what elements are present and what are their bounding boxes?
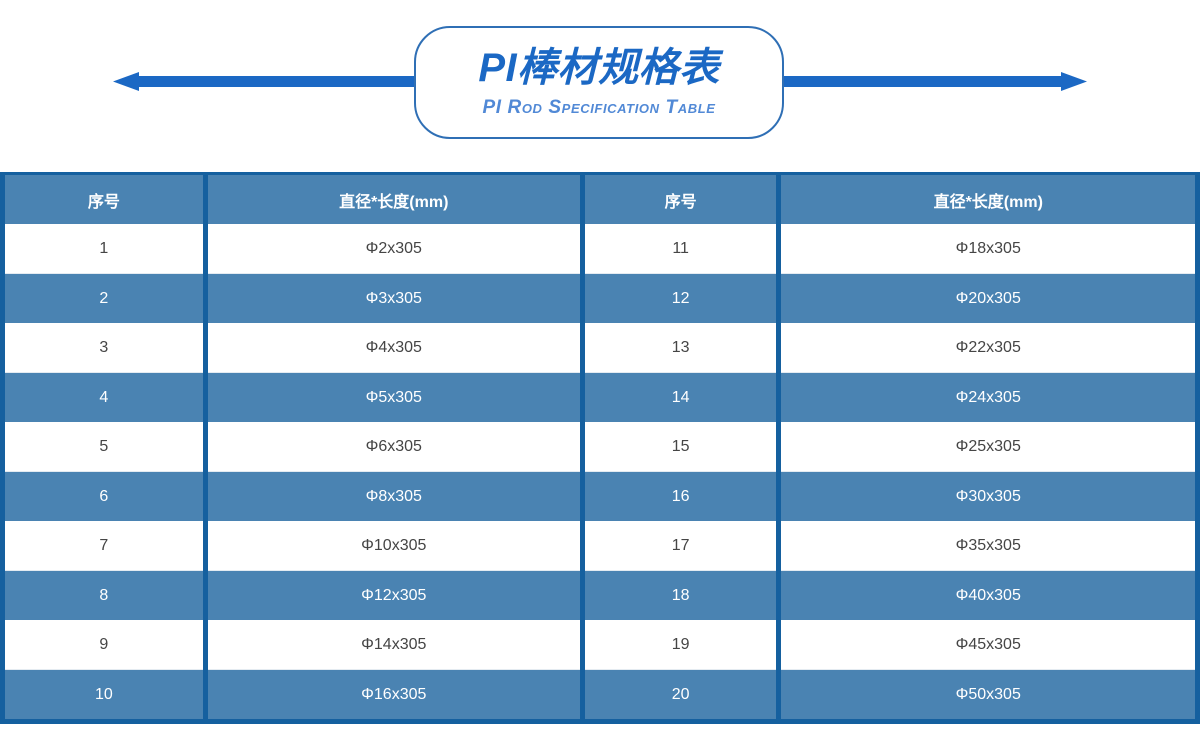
cell-no-left: 6	[3, 472, 206, 522]
cell-spec-left: Φ5x305	[205, 373, 582, 423]
cell-spec-right: Φ35x305	[779, 521, 1198, 571]
cell-no-right: 11	[582, 224, 779, 274]
page-banner: PI棒材规格表 PI Rod Specification Table	[0, 0, 1200, 170]
cell-no-left: 5	[3, 422, 206, 472]
cell-no-left: 3	[3, 323, 206, 373]
cell-spec-left: Φ14x305	[205, 620, 582, 670]
cell-no-left: 2	[3, 274, 206, 324]
cell-no-right: 20	[582, 670, 779, 722]
column-header-spec-left: 直径*长度(mm)	[205, 174, 582, 225]
cell-no-right: 13	[582, 323, 779, 373]
column-header-no-left: 序号	[3, 174, 206, 225]
table-row: 5 Φ6x305 15 Φ25x305	[3, 422, 1198, 472]
table-body: 1 Φ2x305 11 Φ18x305 2 Φ3x305 12 Φ20x305 …	[3, 224, 1198, 722]
cell-spec-left: Φ10x305	[205, 521, 582, 571]
cell-spec-left: Φ2x305	[205, 224, 582, 274]
cell-no-left: 7	[3, 521, 206, 571]
page-subtitle: PI Rod Specification Table	[482, 97, 715, 119]
cell-spec-right: Φ25x305	[779, 422, 1198, 472]
cell-no-right: 15	[582, 422, 779, 472]
page-title: PI棒材规格表	[478, 46, 719, 91]
cell-spec-right: Φ24x305	[779, 373, 1198, 423]
table-header-row: 序号 直径*长度(mm) 序号 直径*长度(mm)	[3, 174, 1198, 225]
table-row: 9 Φ14x305 19 Φ45x305	[3, 620, 1198, 670]
table-row: 10 Φ16x305 20 Φ50x305	[3, 670, 1198, 722]
table-row: 8 Φ12x305 18 Φ40x305	[3, 571, 1198, 621]
cell-spec-left: Φ6x305	[205, 422, 582, 472]
cell-no-left: 4	[3, 373, 206, 423]
table-row: 1 Φ2x305 11 Φ18x305	[3, 224, 1198, 274]
cell-spec-right: Φ18x305	[779, 224, 1198, 274]
specification-table: 序号 直径*长度(mm) 序号 直径*长度(mm) 1 Φ2x305 11 Φ1…	[0, 172, 1200, 724]
table-header: 序号 直径*长度(mm) 序号 直径*长度(mm)	[3, 174, 1198, 225]
cell-no-left: 10	[3, 670, 206, 722]
cell-no-right: 17	[582, 521, 779, 571]
table-row: 2 Φ3x305 12 Φ20x305	[3, 274, 1198, 324]
cell-no-right: 12	[582, 274, 779, 324]
cell-no-right: 14	[582, 373, 779, 423]
cell-no-left: 1	[3, 224, 206, 274]
cell-no-left: 8	[3, 571, 206, 621]
table-row: 6 Φ8x305 16 Φ30x305	[3, 472, 1198, 522]
cell-spec-left: Φ3x305	[205, 274, 582, 324]
table-row: 4 Φ5x305 14 Φ24x305	[3, 373, 1198, 423]
cell-spec-left: Φ4x305	[205, 323, 582, 373]
cell-spec-left: Φ16x305	[205, 670, 582, 722]
cell-spec-right: Φ40x305	[779, 571, 1198, 621]
cell-no-right: 16	[582, 472, 779, 522]
column-header-spec-right: 直径*长度(mm)	[779, 174, 1198, 225]
specification-table-container: 序号 直径*长度(mm) 序号 直径*长度(mm) 1 Φ2x305 11 Φ1…	[0, 172, 1200, 724]
cell-spec-right: Φ30x305	[779, 472, 1198, 522]
cell-no-left: 9	[3, 620, 206, 670]
title-card: PI棒材规格表 PI Rod Specification Table	[414, 26, 784, 139]
cell-spec-right: Φ22x305	[779, 323, 1198, 373]
cell-no-right: 18	[582, 571, 779, 621]
column-header-no-right: 序号	[582, 174, 779, 225]
table-row: 7 Φ10x305 17 Φ35x305	[3, 521, 1198, 571]
cell-spec-right: Φ50x305	[779, 670, 1198, 722]
table-row: 3 Φ4x305 13 Φ22x305	[3, 323, 1198, 373]
cell-spec-right: Φ20x305	[779, 274, 1198, 324]
cell-spec-left: Φ8x305	[205, 472, 582, 522]
cell-spec-left: Φ12x305	[205, 571, 582, 621]
cell-no-right: 19	[582, 620, 779, 670]
cell-spec-right: Φ45x305	[779, 620, 1198, 670]
